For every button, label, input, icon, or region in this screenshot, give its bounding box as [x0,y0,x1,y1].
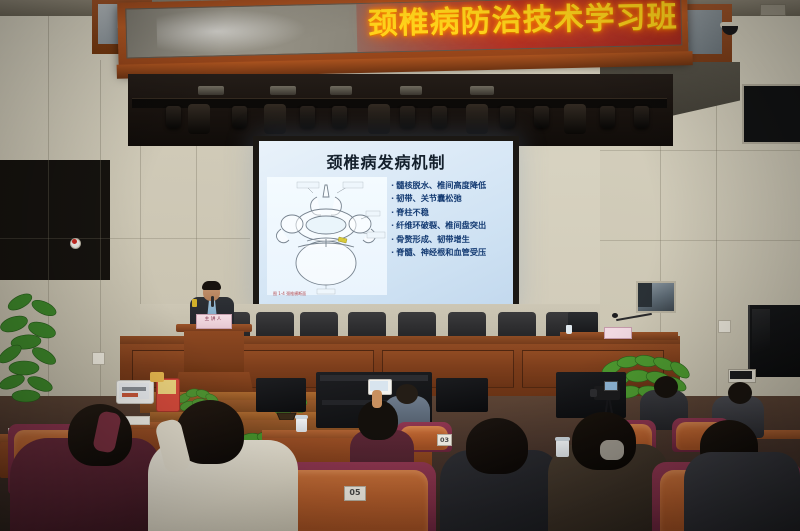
stage-light [500,106,515,128]
face-mask [600,440,624,460]
list-item: ·骨赘形成、韧带增生 [391,233,511,246]
stage-light [188,104,210,134]
bullet-text: 骨赘形成、韧带增生 [396,234,470,244]
plant-svg [0,286,70,406]
light-switch-icon[interactable] [92,352,105,365]
stage-light [400,106,415,128]
stage-light [368,104,390,134]
phone-screen-content [122,387,146,391]
camera-lens [590,389,597,397]
left-wall-dark-panel [0,160,110,280]
ceiling-light [198,86,224,95]
wall-display-upper-right [742,84,800,144]
wall-seam [600,150,800,151]
tea-cup [566,325,572,334]
audience-person-body [684,452,800,531]
stage-light [166,106,181,128]
audience-person-head [396,384,418,404]
banner-glare [156,7,307,55]
lecture-hall-photo: 颈椎病防治技术学习班 颈椎病发病机制 [0,0,800,531]
tv-screen-glare [752,309,770,369]
banner-title-text: 颈椎病防治技术学习班 [367,0,688,48]
ceiling-light [270,86,296,95]
bullet-text: 韧带、关节囊松弛 [396,193,462,203]
microphone-icon [211,296,214,307]
audience-person-head [466,418,528,474]
light-switch-icon[interactable] [718,320,731,333]
monitor-left [256,378,306,412]
ceiling-light [470,86,494,95]
list-item: ·髓核脱水、椎间高度降低 [391,179,511,192]
av-control-panel-face [730,371,752,379]
speaker-hair [202,281,221,290]
slide-title: 颈椎病发病机制 [259,149,513,173]
stage-light [232,106,247,128]
stage-light [534,106,549,128]
vertebra-svg [267,177,387,295]
phone-screen [158,380,176,394]
raised-arm [372,390,382,408]
cup-lid [555,437,570,441]
phone-case-detail [150,372,164,382]
camera-flip-screen [604,381,618,391]
fire-alarm-led [72,239,77,244]
stage-light [634,106,649,128]
stage-light [466,104,488,134]
seat-number: 03 [437,434,452,446]
list-item: ·纤维环破裂、椎间盘突出 [391,219,511,232]
podium-nameplate-text: 主 讲 人 [198,316,228,324]
bullet-text: 髓核脱水、椎间高度降低 [396,180,486,190]
bullet-text: 脊柱不稳 [396,207,429,217]
stage-light [600,106,615,128]
bullet-text: 纤维环破裂、椎间盘突出 [396,220,486,230]
slide-figure-caption: 图 1-4 颈椎横断面 [273,291,306,297]
wall-seam [600,240,800,241]
ceiling-vent [760,4,786,16]
list-item: ·脊柱不稳 [391,206,511,219]
stage-light [264,104,286,134]
cervical-vertebra-diagram [267,177,387,295]
seat-number: 05 [344,486,366,501]
stage-light [332,106,347,128]
ceiling-light [400,86,422,95]
wall-seam [100,60,101,420]
speaker-badge [192,299,197,307]
wall-seam [0,238,250,239]
list-item: ·韧带、关节囊松弛 [391,192,511,205]
list-item: ·脊髓、神经根和血管受压 [391,246,511,259]
desk-monitor-right [568,312,598,334]
microphone-icon [612,313,618,318]
podium-body [184,331,244,379]
stage-light [300,106,315,128]
projection-screen: 颈椎病发病机制 [259,141,513,304]
cup-lid [295,415,308,419]
phone-screen-content [122,393,138,397]
tea-cup-lidded [296,418,307,432]
event-banner: 颈椎病防治技术学习班 [117,0,689,81]
tea-cup-lidded [556,440,569,457]
audience-person-head [728,382,752,404]
side-table-nameplate [604,327,632,339]
slide-bullet-list: ·髓核脱水、椎间高度降低 ·韧带、关节囊松弛 ·脊柱不稳 ·纤维环破裂、椎间盘突… [391,179,511,259]
potted-plant [0,286,70,410]
bullet-text: 脊髓、神经根和血管受压 [396,247,486,257]
audience-person-head [654,376,678,398]
monitor-right-inner [436,378,488,412]
stage-light [564,104,586,134]
stage-light [432,106,447,128]
ceiling-light [330,86,352,95]
booth-window-dark [638,283,652,307]
